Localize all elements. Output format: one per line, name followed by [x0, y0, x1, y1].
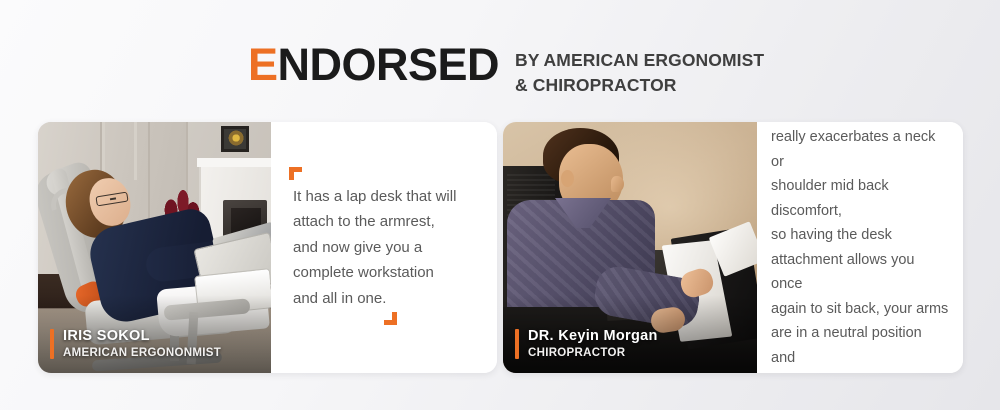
person-name-badge: DR. Keyin Morgan CHIROPRACTOR [515, 329, 658, 359]
testimonial-photo: DR. Keyin Morgan CHIROPRACTOR [503, 122, 757, 373]
testimonial-card: IRIS SOKOL AMERICAN ERGONONMIST It has a… [38, 122, 497, 373]
curtain-rod [134, 122, 137, 180]
person-ear [561, 170, 574, 187]
quote-open-bracket-icon [289, 167, 302, 180]
quote-close-bracket-icon [384, 312, 397, 325]
testimonial-quote-panel: It has a lap desk that will attach to th… [271, 122, 497, 373]
person-nose [611, 176, 624, 192]
page-title: ENDORSED [248, 42, 499, 88]
quote-text: It has a lap desk that will attach to th… [293, 184, 477, 312]
testimonial-photo: IRIS SOKOL AMERICAN ERGONONMIST [38, 122, 271, 373]
accent-bar [50, 329, 54, 359]
subheading-line-1: BY AMERICAN ERGONOMIST [515, 48, 764, 73]
person-name-badge: IRIS SOKOL AMERICAN ERGONONMIST [50, 329, 221, 359]
subheading: BY AMERICAN ERGONOMIST & CHIROPRACTOR [515, 48, 764, 98]
wall-picture-art [224, 129, 246, 149]
headline-rest: NDORSED [278, 39, 500, 90]
mantel-shelf [197, 158, 271, 167]
testimonial-card: DR. Keyin Morgan CHIROPRACTOR Using a la… [503, 122, 963, 373]
endorsement-heading: ENDORSED BY AMERICAN ERGONOMIST & CHIROP… [248, 42, 764, 98]
person-title: AMERICAN ERGONONMIST [63, 347, 221, 359]
person-name: IRIS SOKOL [63, 329, 221, 345]
person-title: CHIROPRACTOR [528, 347, 658, 359]
person-name: DR. Keyin Morgan [528, 329, 658, 345]
headline-accent-letter: E [248, 39, 278, 90]
quote-text: Using a laptop every single day is one o… [771, 122, 949, 373]
testimonial-quote-panel: Using a laptop every single day is one o… [757, 122, 963, 373]
accent-bar [515, 329, 519, 359]
subheading-line-2: & CHIROPRACTOR [515, 73, 764, 98]
